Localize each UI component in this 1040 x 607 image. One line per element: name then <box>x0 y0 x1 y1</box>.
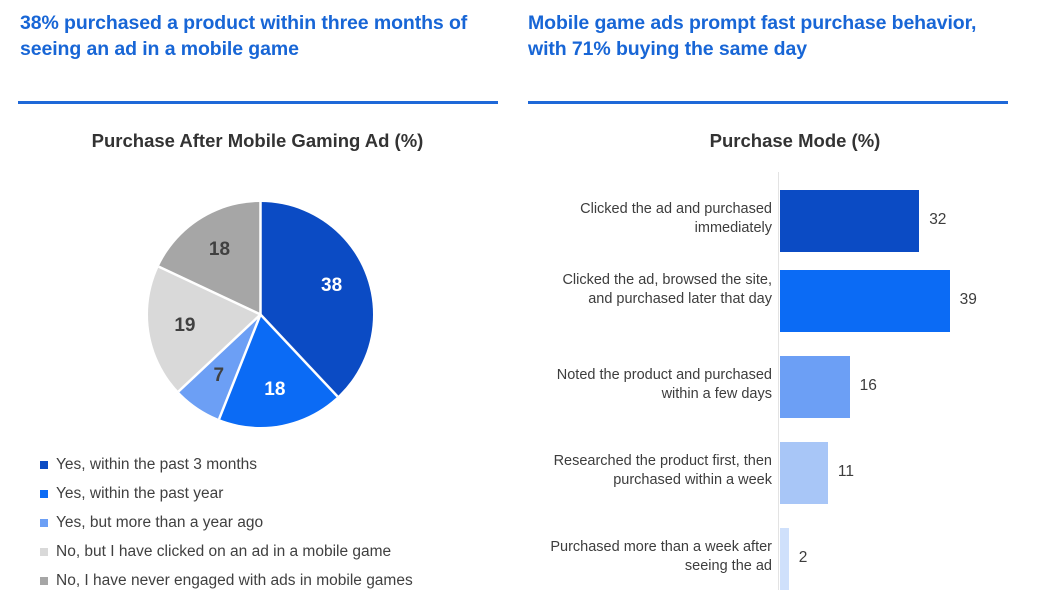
bar-row: Clicked the ad, browsed the site, and pu… <box>520 258 1040 344</box>
legend-label: No, I have never engaged with ads in mob… <box>56 572 413 590</box>
pie-label-2: 7 <box>213 365 224 387</box>
right-divider <box>528 101 1008 104</box>
legend-swatch-icon <box>40 519 48 527</box>
right-headline: Mobile game ads prompt fast purchase beh… <box>528 10 1008 62</box>
legend-swatch-icon <box>40 577 48 585</box>
bar-row: Purchased more than a week after seeing … <box>520 516 1040 602</box>
legend-label: Yes, within the past year <box>56 485 223 503</box>
bar-category-label: Clicked the ad and purchased immediately <box>542 200 772 238</box>
legend-swatch-icon <box>40 461 48 469</box>
legend-label: No, but I have clicked on an ad in a mob… <box>56 543 391 561</box>
right-chart-title: Purchase Mode (%) <box>580 128 1010 153</box>
pie-legend: Yes, within the past 3 monthsYes, within… <box>40 450 413 595</box>
left-chart-title: Purchase After Mobile Gaming Ad (%) <box>45 128 470 153</box>
bar-value-label: 11 <box>838 463 854 481</box>
bar-chart: Clicked the ad and purchased immediately… <box>520 172 1040 592</box>
left-panel: 38% purchased a product within three mon… <box>0 0 510 607</box>
legend-swatch-icon <box>40 490 48 498</box>
legend-item[interactable]: Yes, but more than a year ago <box>40 508 413 537</box>
legend-label: Yes, within the past 3 months <box>56 456 257 474</box>
legend-item[interactable]: No, I have never engaged with ads in mob… <box>40 566 413 595</box>
pie-label-1: 18 <box>264 379 285 401</box>
bar-category-label: Noted the product and purchased within a… <box>542 366 772 404</box>
bar-row: Noted the product and purchased within a… <box>520 344 1040 430</box>
slide-canvas: 38% purchased a product within three mon… <box>0 0 1040 607</box>
bar-row: Clicked the ad and purchased immediately… <box>520 172 1040 258</box>
legend-item[interactable]: No, but I have clicked on an ad in a mob… <box>40 537 413 566</box>
bar-segment[interactable] <box>780 528 789 590</box>
bar-segment[interactable] <box>780 442 828 504</box>
bar-segment[interactable] <box>780 356 850 418</box>
bar-category-label: Researched the product first, then purch… <box>542 452 772 490</box>
legend-swatch-icon <box>40 548 48 556</box>
pie-label-4: 18 <box>209 239 230 261</box>
legend-item[interactable]: Yes, within the past 3 months <box>40 450 413 479</box>
pie-chart: 381871918 <box>148 202 373 427</box>
bar-value-label: 2 <box>799 549 808 567</box>
bar-value-label: 32 <box>929 211 946 229</box>
legend-item[interactable]: Yes, within the past year <box>40 479 413 508</box>
pie-label-3: 19 <box>174 315 195 337</box>
bar-value-label: 39 <box>960 291 977 309</box>
bar-category-label: Clicked the ad, browsed the site, and pu… <box>542 271 772 309</box>
left-headline: 38% purchased a product within three mon… <box>20 10 490 62</box>
bar-segment[interactable] <box>780 270 950 332</box>
bar-segment[interactable] <box>780 190 919 252</box>
bar-category-label: Purchased more than a week after seeing … <box>542 538 772 576</box>
bar-row: Researched the product first, then purch… <box>520 430 1040 516</box>
pie-label-0: 38 <box>321 275 342 297</box>
right-panel: Mobile game ads prompt fast purchase beh… <box>520 0 1040 607</box>
bar-value-label: 16 <box>860 377 877 395</box>
left-divider <box>18 101 498 104</box>
legend-label: Yes, but more than a year ago <box>56 514 263 532</box>
